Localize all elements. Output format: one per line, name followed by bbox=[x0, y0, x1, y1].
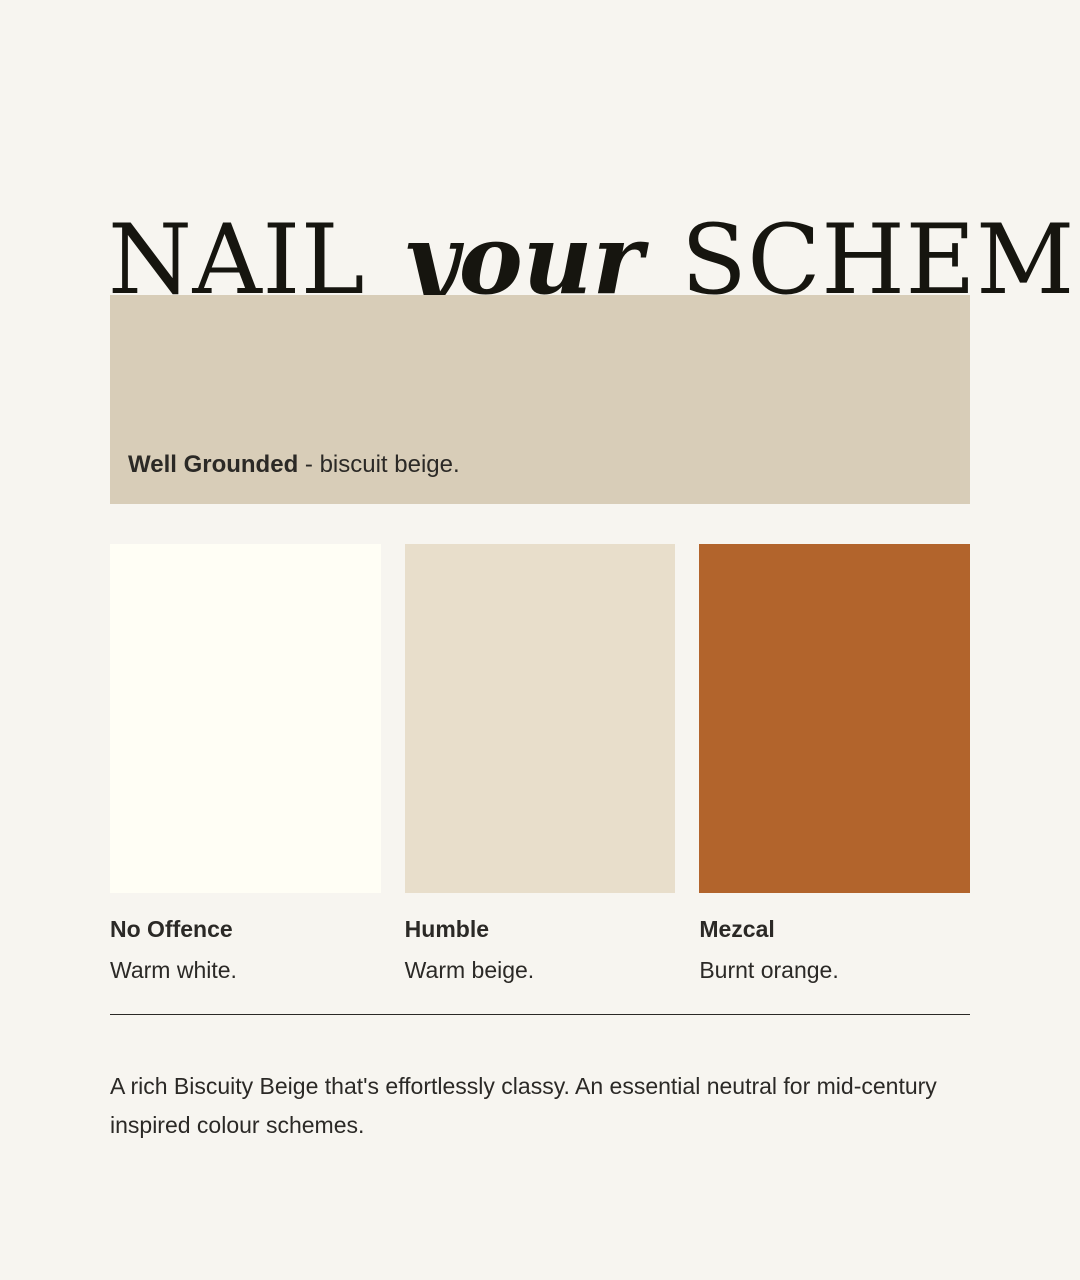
swatch-description: Warm beige. bbox=[405, 956, 676, 985]
hero-colour-banner: Well Grounded - biscuit beige. bbox=[110, 295, 970, 504]
colour-scheme-card: NAIL your SCHEME. Well Grounded - biscui… bbox=[0, 0, 1080, 1280]
swatch-name: Humble bbox=[405, 915, 676, 944]
swatch-description: Warm white. bbox=[110, 956, 381, 985]
swatch-row: No Offence Warm white. Humble Warm beige… bbox=[110, 544, 970, 985]
swatch-item: No Offence Warm white. bbox=[110, 544, 381, 985]
hero-colour-description: - biscuit beige. bbox=[298, 451, 459, 478]
swatch-chip-humble bbox=[405, 544, 676, 893]
hero-colour-caption: Well Grounded - biscuit beige. bbox=[128, 451, 460, 480]
horizontal-divider bbox=[110, 1014, 970, 1015]
swatch-name: Mezcal bbox=[699, 915, 970, 944]
swatch-chip-mezcal bbox=[699, 544, 970, 893]
page-title: NAIL your SCHEME. bbox=[108, 212, 988, 308]
swatch-item: Humble Warm beige. bbox=[405, 544, 676, 985]
scheme-description: A rich Biscuity Beige that's effortlessl… bbox=[110, 1067, 950, 1145]
swatch-chip-no-offence bbox=[110, 544, 381, 893]
swatch-item: Mezcal Burnt orange. bbox=[699, 544, 970, 985]
swatch-name: No Offence bbox=[110, 915, 381, 944]
swatch-description: Burnt orange. bbox=[699, 956, 970, 985]
hero-colour-name: Well Grounded bbox=[128, 451, 298, 478]
